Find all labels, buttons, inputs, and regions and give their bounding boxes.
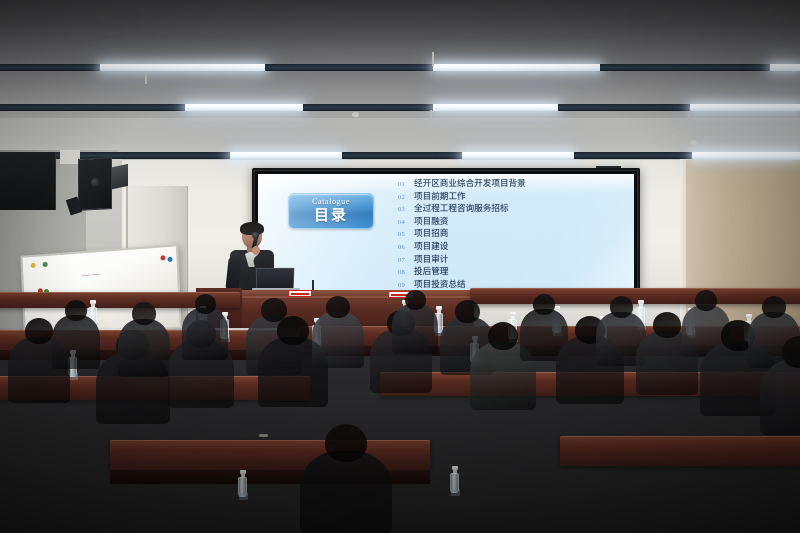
magnet-icon bbox=[167, 257, 172, 262]
audience-member bbox=[52, 300, 100, 375]
light-fixture-off bbox=[558, 104, 690, 111]
speaker-cone-icon bbox=[91, 178, 100, 187]
light-fixture-off bbox=[0, 104, 90, 111]
catalogue-badge: Catalogue 目录 bbox=[288, 193, 374, 229]
agenda-item-label: 项目融资 bbox=[414, 218, 448, 227]
audience-member-head bbox=[195, 294, 216, 314]
agenda-item: 01经开区商业综合开发项目背景 bbox=[398, 180, 630, 193]
light-fixture-lit bbox=[433, 104, 558, 111]
audience-member bbox=[182, 294, 228, 366]
agenda-item: 08投后管理 bbox=[398, 268, 630, 281]
agenda-item-label: 投后管理 bbox=[414, 268, 448, 277]
audience-member-torso bbox=[392, 304, 438, 354]
audience-member bbox=[300, 424, 392, 533]
audience-member-head bbox=[455, 300, 480, 323]
bottle-label bbox=[239, 493, 248, 500]
agenda-item-label: 全过程工程咨询服务招标 bbox=[414, 205, 509, 214]
projection-screen[interactable]: Catalogue 目录 01经开区商业综合开发项目背景02项目前期工作03全过… bbox=[258, 174, 634, 293]
ceiling-soffit bbox=[0, 118, 800, 142]
door-handle-icon bbox=[259, 434, 268, 437]
audience-member-torso bbox=[182, 308, 228, 360]
bottle-label bbox=[451, 489, 460, 496]
light-fixture-off bbox=[0, 64, 100, 71]
agenda-item: 03全过程工程咨询服务招标 bbox=[398, 205, 630, 218]
audience-member-head bbox=[132, 302, 156, 325]
light-row bbox=[0, 104, 800, 111]
microphone-head-icon bbox=[252, 232, 259, 239]
agenda-item-number: 07 bbox=[398, 257, 409, 264]
agenda-item-number: 09 bbox=[398, 282, 409, 289]
audience-member bbox=[760, 336, 800, 444]
whiteboard-writing: ⁓⁓ bbox=[81, 268, 128, 287]
bottle-body bbox=[238, 477, 247, 497]
audience-member-head bbox=[488, 322, 518, 350]
magnet-icon bbox=[43, 262, 48, 267]
audience-member-head bbox=[405, 290, 426, 310]
light-fixture-lit bbox=[230, 152, 342, 159]
audience-member-head bbox=[326, 296, 350, 318]
sprinkler-head-icon bbox=[352, 112, 359, 117]
light-fixture-lit bbox=[100, 64, 265, 71]
catalogue-badge-english: Catalogue bbox=[312, 198, 350, 206]
name-placard bbox=[288, 290, 312, 297]
audience-member-head bbox=[610, 296, 633, 318]
audience-member-torso bbox=[300, 451, 392, 533]
agenda-item-number: 04 bbox=[398, 219, 409, 226]
agenda-item-label: 经开区商业综合开发项目背景 bbox=[414, 180, 526, 189]
audience-member bbox=[392, 290, 438, 360]
light-fixture-lit bbox=[185, 104, 303, 111]
agenda-item: 06项目建设 bbox=[398, 243, 630, 256]
audience-member bbox=[118, 302, 170, 383]
agenda-item-label: 项目投资总结 bbox=[414, 281, 466, 290]
magnet-icon bbox=[31, 263, 36, 268]
laptop-screen[interactable] bbox=[256, 268, 295, 290]
light-fixture-lit bbox=[692, 152, 800, 159]
light-drop-rod bbox=[145, 74, 147, 84]
audience-member bbox=[312, 296, 364, 374]
projector-mount bbox=[60, 150, 80, 164]
audience-member-head bbox=[533, 294, 555, 315]
light-fixture-off bbox=[574, 152, 692, 159]
audience-member-torso bbox=[760, 359, 800, 435]
agenda-item-number: 05 bbox=[398, 231, 409, 238]
agenda-item-number: 08 bbox=[398, 269, 409, 276]
agenda-item-number: 03 bbox=[398, 206, 409, 213]
light-fixture-off bbox=[342, 152, 462, 159]
placard-stripe bbox=[291, 293, 309, 295]
agenda-item-label: 项目审计 bbox=[414, 256, 448, 265]
light-fixture-lit bbox=[462, 152, 574, 159]
light-fixture-off bbox=[265, 64, 433, 71]
catalogue-badge-chinese: 目录 bbox=[314, 207, 348, 224]
light-fixture-lit bbox=[690, 104, 800, 111]
agenda-item-number: 02 bbox=[398, 194, 409, 201]
presenter-hand bbox=[252, 246, 260, 255]
audience-member-head bbox=[277, 316, 309, 345]
light-drop-rod bbox=[688, 112, 690, 124]
wall-speaker bbox=[78, 157, 112, 211]
light-fixture-off bbox=[600, 64, 770, 71]
agenda-item-label: 项目建设 bbox=[414, 243, 448, 252]
audience-member-head bbox=[762, 296, 786, 318]
audience-member-torso bbox=[312, 312, 364, 368]
audience-member-torso bbox=[52, 315, 100, 369]
light-row bbox=[0, 64, 800, 71]
audience-member-head bbox=[325, 424, 367, 462]
light-fixture-lit bbox=[770, 64, 800, 71]
conference-room-photo: ⁓⁓ Catalogue 目录 01经开区商业综合开发项目背景02项目前期工作0… bbox=[0, 0, 800, 533]
agenda-item-label: 项目前期工作 bbox=[414, 193, 466, 202]
light-fixture-lit bbox=[433, 64, 600, 71]
bottle-body bbox=[450, 473, 459, 493]
agenda-item-number: 01 bbox=[398, 181, 409, 188]
sprinkler-head-icon bbox=[690, 140, 697, 145]
wall-monitor bbox=[0, 152, 56, 210]
light-fixture-off bbox=[152, 152, 230, 159]
light-fixture-off bbox=[303, 104, 433, 111]
audience-member-head bbox=[653, 312, 681, 338]
light-drop-rod bbox=[432, 52, 434, 66]
magnet-icon bbox=[160, 255, 165, 260]
agenda-item-label: 项目招商 bbox=[414, 230, 448, 239]
ceiling bbox=[0, 0, 800, 172]
audience-member-head bbox=[25, 318, 53, 344]
light-fixture-off bbox=[90, 104, 185, 111]
light-drop-rod bbox=[430, 110, 432, 122]
light-row bbox=[0, 152, 800, 159]
audience-member-head bbox=[65, 300, 87, 321]
audience-member-torso bbox=[118, 319, 170, 377]
agenda-item-number: 06 bbox=[398, 244, 409, 251]
audience-member-head bbox=[695, 290, 717, 311]
agenda-list: 01经开区商业综合开发项目背景02项目前期工作03全过程工程咨询服务招标04项目… bbox=[398, 180, 630, 293]
